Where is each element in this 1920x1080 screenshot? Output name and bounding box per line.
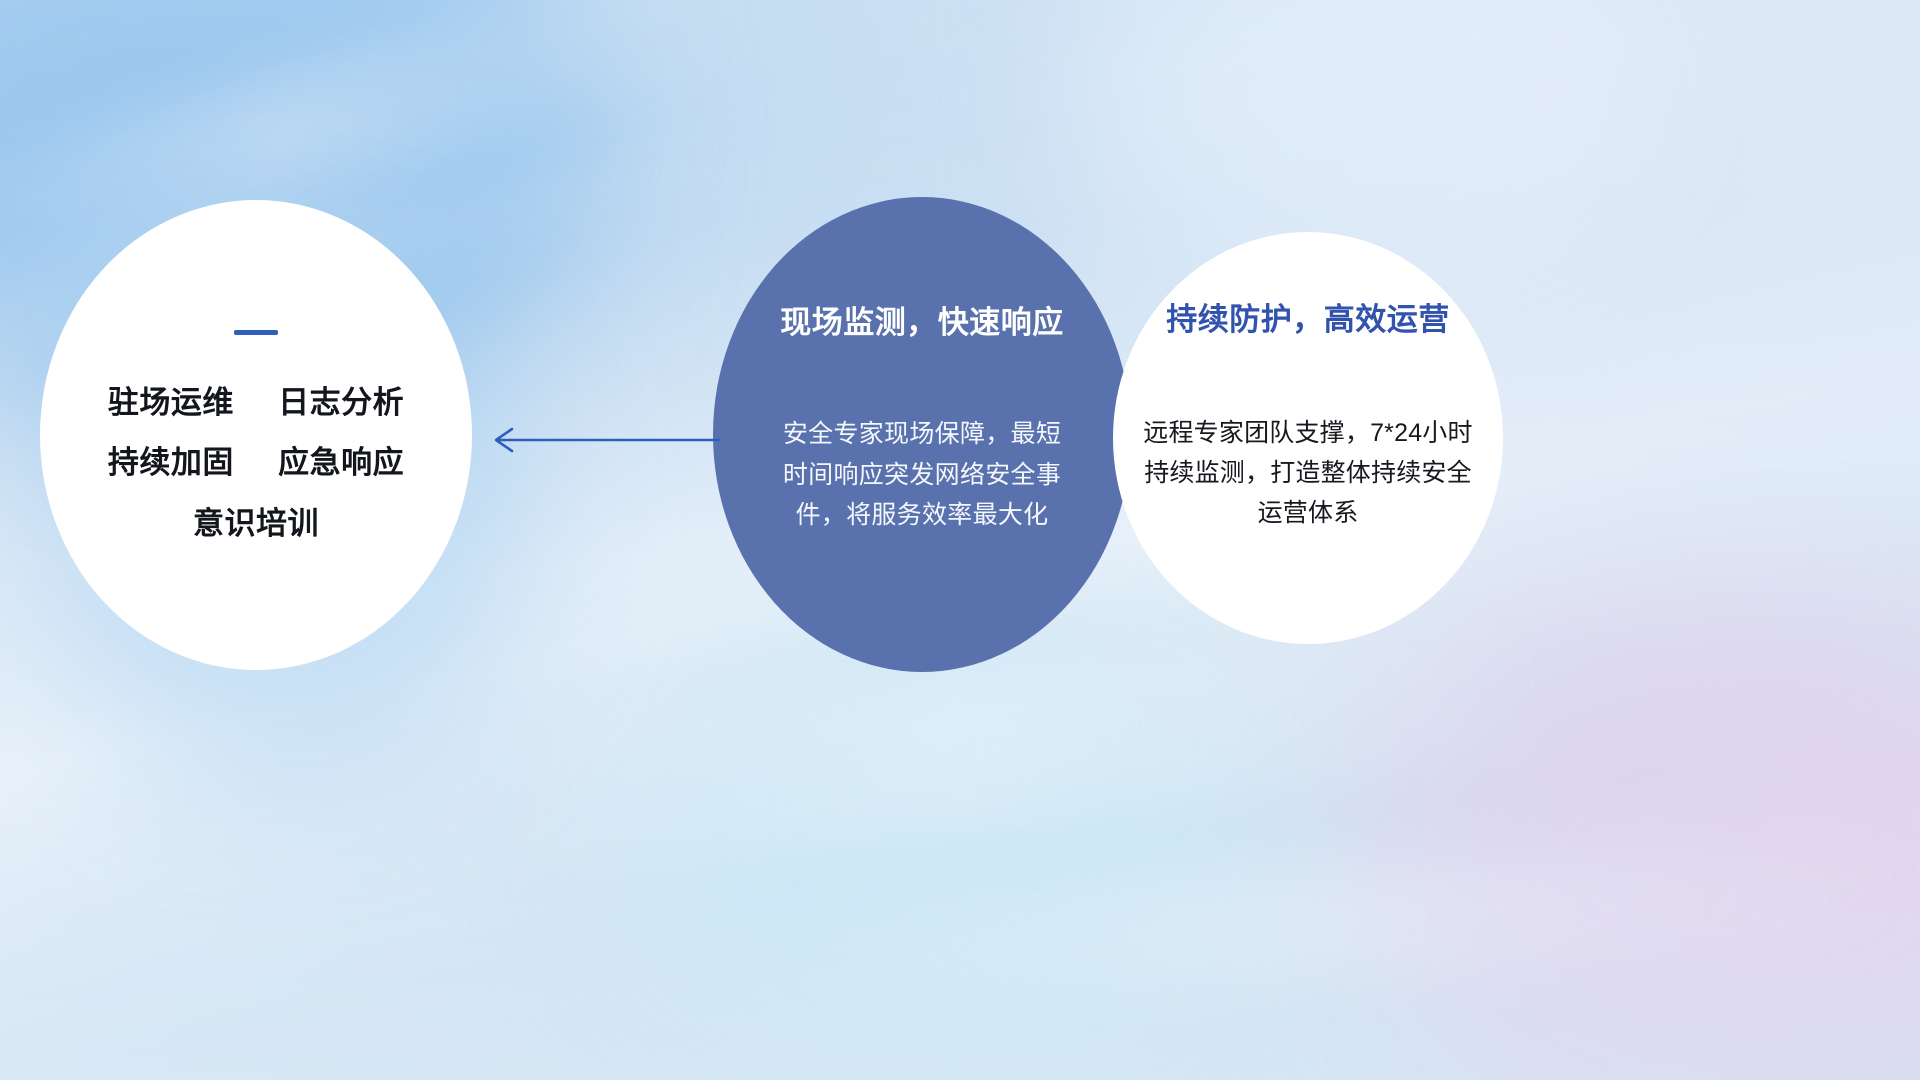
capability-row: 意识培训 <box>193 508 319 541</box>
onsite-monitoring-circle[interactable]: 现场监测，快速响应 安全专家现场保障，最短时间响应突发网络安全事件，将服务效率最… <box>713 197 1131 672</box>
capability-label: 驻场运维 <box>108 385 234 420</box>
onsite-monitoring-body: 安全专家现场保障，最短时间响应突发网络安全事件，将服务效率最大化 <box>777 414 1067 536</box>
diagram-stage: 驻场运维 日志分析 持续加固 应急响应 意识培训 现场监测，快速响应 安全专家现… <box>0 0 1920 1080</box>
horizontal-dash-icon <box>234 330 278 335</box>
service-capabilities-circle[interactable]: 驻场运维 日志分析 持续加固 应急响应 意识培训 <box>40 200 472 670</box>
continuous-protection-circle[interactable]: 持续防护，高效运营 远程专家团队支撑，7*24小时持续监测，打造整体持续安全运营… <box>1113 232 1503 644</box>
capability-row: 驻场运维 日志分析 <box>108 387 404 420</box>
left-arrow-icon <box>484 418 720 462</box>
continuous-protection-body: 远程专家团队支撑，7*24小时持续监测，打造整体持续安全运营体系 <box>1134 413 1482 533</box>
continuous-protection-title: 持续防护，高效运营 <box>1166 294 1450 339</box>
onsite-monitoring-title: 现场监测，快速响应 <box>780 297 1064 342</box>
capability-label: 持续加固 <box>108 445 234 480</box>
capability-label: 日志分析 <box>278 385 404 420</box>
capability-label: 应急响应 <box>278 445 404 480</box>
capability-label: 意识培训 <box>193 506 319 541</box>
capability-row: 持续加固 应急响应 <box>108 447 404 480</box>
